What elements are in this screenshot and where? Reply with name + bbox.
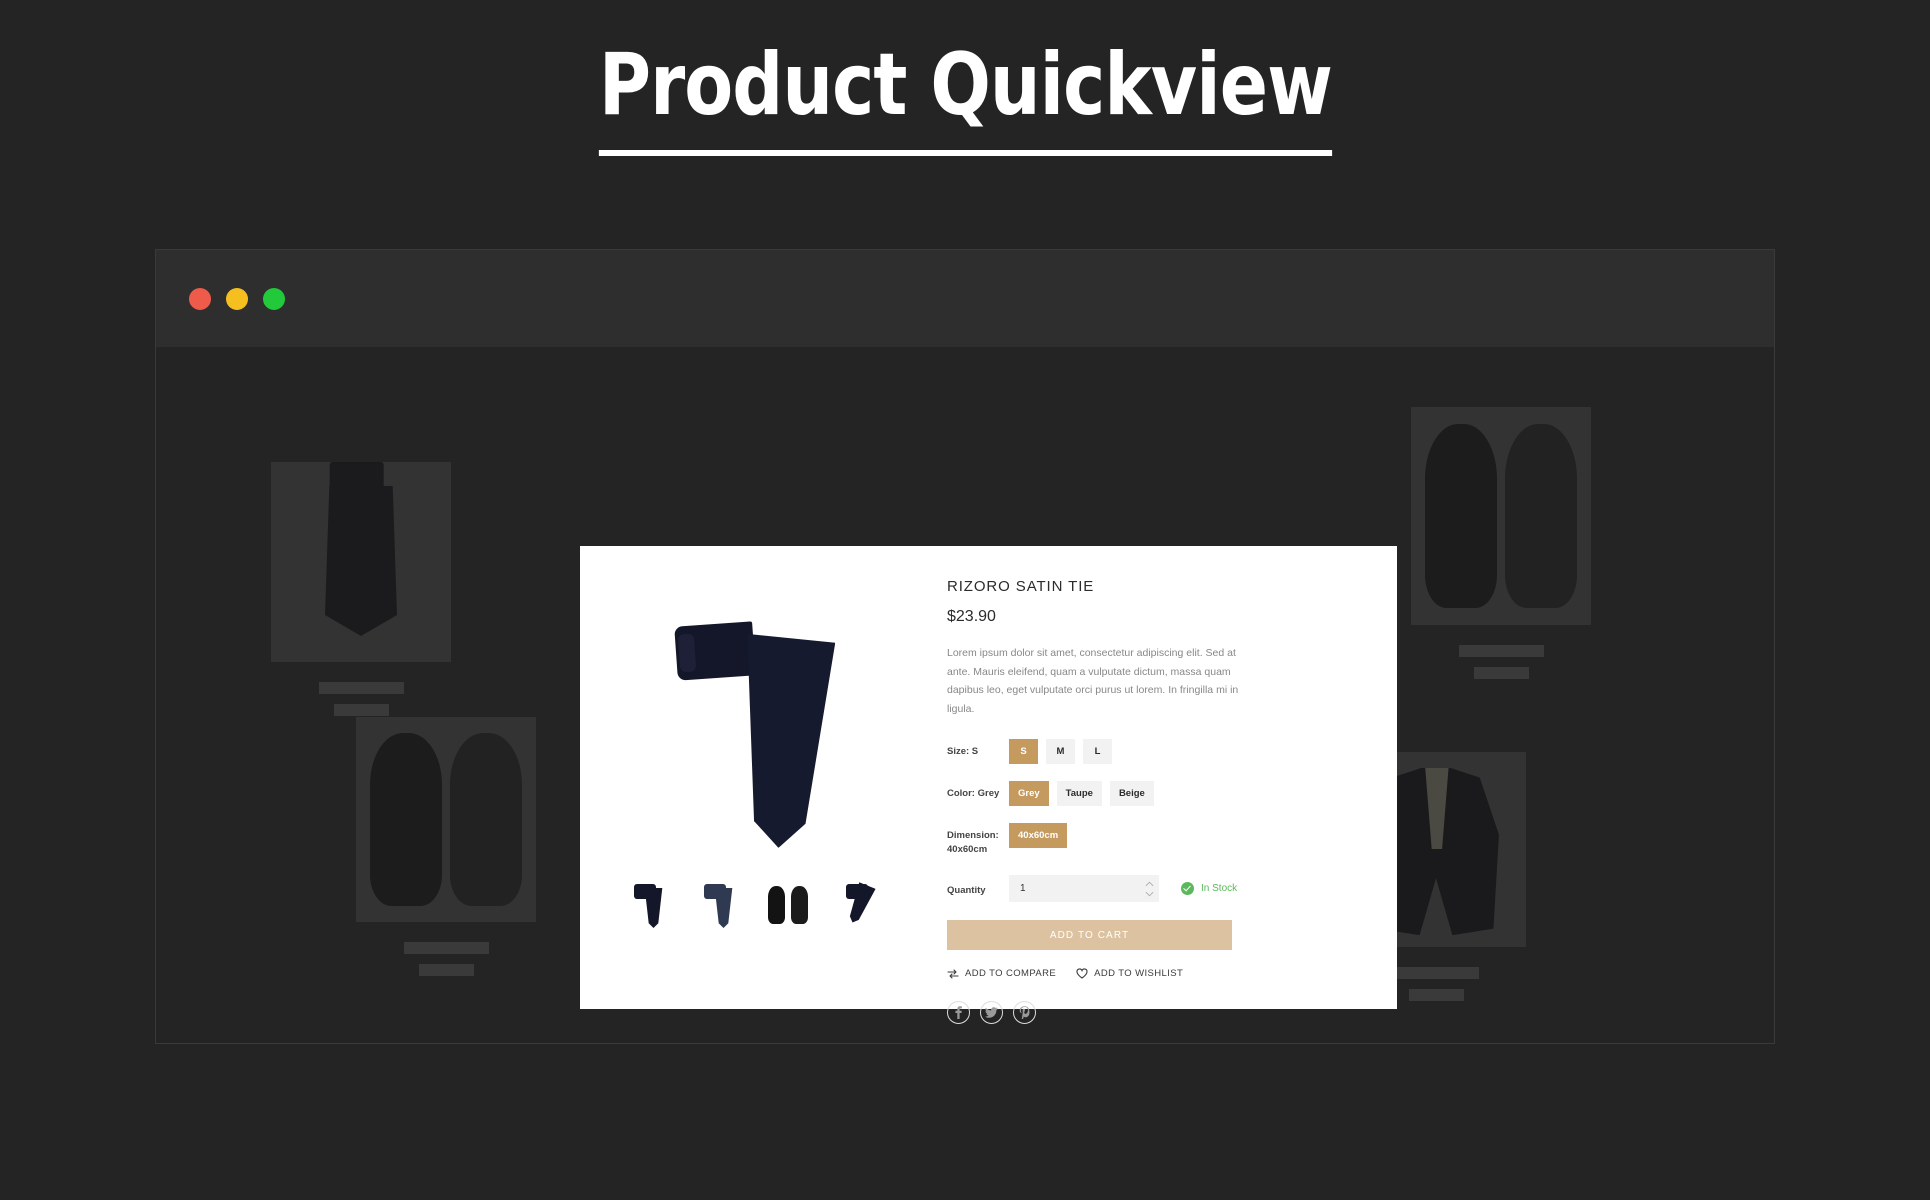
product-price: $23.90	[947, 608, 1361, 626]
placeholder-bar	[1459, 645, 1544, 657]
add-to-cart-button[interactable]: ADD TO CART	[947, 920, 1232, 950]
color-swatches: Grey Taupe Beige	[1009, 781, 1154, 806]
thumbnail-navy-tie[interactable]	[618, 874, 678, 934]
quantity-input[interactable]	[1009, 875, 1159, 902]
pinterest-icon[interactable]	[1013, 1001, 1036, 1024]
twitter-icon[interactable]	[980, 1001, 1003, 1024]
product-description: Lorem ipsum dolor sit amet, consectetur …	[947, 644, 1257, 719]
browser-titlebar	[156, 250, 1774, 347]
product-details: RIZORO SATIN TIE $23.90 Lorem ipsum dolo…	[925, 546, 1397, 1009]
quantity-stepper[interactable]	[1009, 875, 1159, 902]
color-label: Color: Grey	[947, 781, 1009, 802]
option-row-dimension: Dimension: 40x60cm 40x60cm	[947, 823, 1361, 858]
thumbnail-angled-tie[interactable]	[828, 874, 888, 934]
thumbnail-blue-tie[interactable]	[688, 874, 748, 934]
chevron-down-icon[interactable]	[1145, 891, 1154, 897]
product-action-links: ADD TO COMPARE ADD TO WISHLIST	[947, 968, 1361, 979]
product-gallery	[580, 546, 925, 1009]
option-row-color: Color: Grey Grey Taupe Beige	[947, 781, 1361, 806]
status-badge: In Stock	[1181, 882, 1237, 895]
background-tie-image	[271, 462, 451, 662]
placeholder-bar	[334, 704, 389, 716]
thumbnail-shoes[interactable]	[758, 874, 818, 934]
quantity-spinners	[1145, 875, 1154, 902]
placeholder-bar	[1394, 967, 1479, 979]
window-close-dot[interactable]	[189, 288, 211, 310]
product-hero-image[interactable]	[648, 586, 858, 856]
browser-window: RIZORO SATIN TIE $23.90 Lorem ipsum dolo…	[155, 249, 1775, 1044]
browser-viewport: RIZORO SATIN TIE $23.90 Lorem ipsum dolo…	[156, 347, 1774, 1043]
size-label: Size: S	[947, 739, 1009, 760]
add-to-wishlist-label: ADD TO WISHLIST	[1094, 968, 1183, 979]
tie-knot-shape	[674, 621, 756, 680]
size-option-l[interactable]: L	[1083, 739, 1112, 764]
window-minimize-dot[interactable]	[226, 288, 248, 310]
quantity-row: Quantity In Stock	[947, 875, 1361, 902]
facebook-icon[interactable]	[947, 1001, 970, 1024]
chevron-up-icon[interactable]	[1145, 881, 1154, 887]
add-to-wishlist-link[interactable]: ADD TO WISHLIST	[1076, 968, 1183, 979]
window-maximize-dot[interactable]	[263, 288, 285, 310]
color-option-grey[interactable]: Grey	[1009, 781, 1049, 806]
background-shoes-image	[1411, 407, 1591, 625]
add-to-compare-label: ADD TO COMPARE	[965, 968, 1056, 979]
size-option-m[interactable]: M	[1046, 739, 1075, 764]
quantity-label: Quantity	[947, 878, 1009, 899]
social-share-row	[947, 1001, 1361, 1024]
quickview-modal: RIZORO SATIN TIE $23.90 Lorem ipsum dolo…	[580, 546, 1397, 1009]
dimension-label: Dimension: 40x60cm	[947, 823, 1009, 858]
background-shoes-image	[356, 717, 536, 922]
page-title: Product Quickview	[598, 42, 1331, 156]
color-option-taupe[interactable]: Taupe	[1057, 781, 1102, 806]
option-row-size: Size: S S M L	[947, 739, 1361, 764]
placeholder-bar	[419, 964, 474, 976]
size-swatches: S M L	[1009, 739, 1112, 764]
size-option-s[interactable]: S	[1009, 739, 1038, 764]
placeholder-bar	[404, 942, 489, 954]
dimension-swatches: 40x60cm	[1009, 823, 1067, 848]
background-card-shoes-bottom[interactable]	[356, 717, 536, 976]
dimension-option-40x60[interactable]: 40x60cm	[1009, 823, 1067, 848]
heart-icon	[1076, 968, 1088, 979]
background-card-shoes-top[interactable]	[1411, 407, 1591, 679]
placeholder-bar	[1474, 667, 1529, 679]
color-option-beige[interactable]: Beige	[1110, 781, 1154, 806]
thumbnail-strip	[618, 874, 888, 934]
compare-icon	[947, 969, 959, 979]
placeholder-bar	[1409, 989, 1464, 1001]
add-to-compare-link[interactable]: ADD TO COMPARE	[947, 968, 1056, 979]
stock-text: In Stock	[1201, 883, 1237, 894]
background-card-tie[interactable]	[271, 462, 451, 716]
placeholder-bar	[319, 682, 404, 694]
page-title-container: Product Quickview	[0, 42, 1930, 156]
check-circle-icon	[1181, 882, 1194, 895]
product-name: RIZORO SATIN TIE	[947, 578, 1361, 595]
